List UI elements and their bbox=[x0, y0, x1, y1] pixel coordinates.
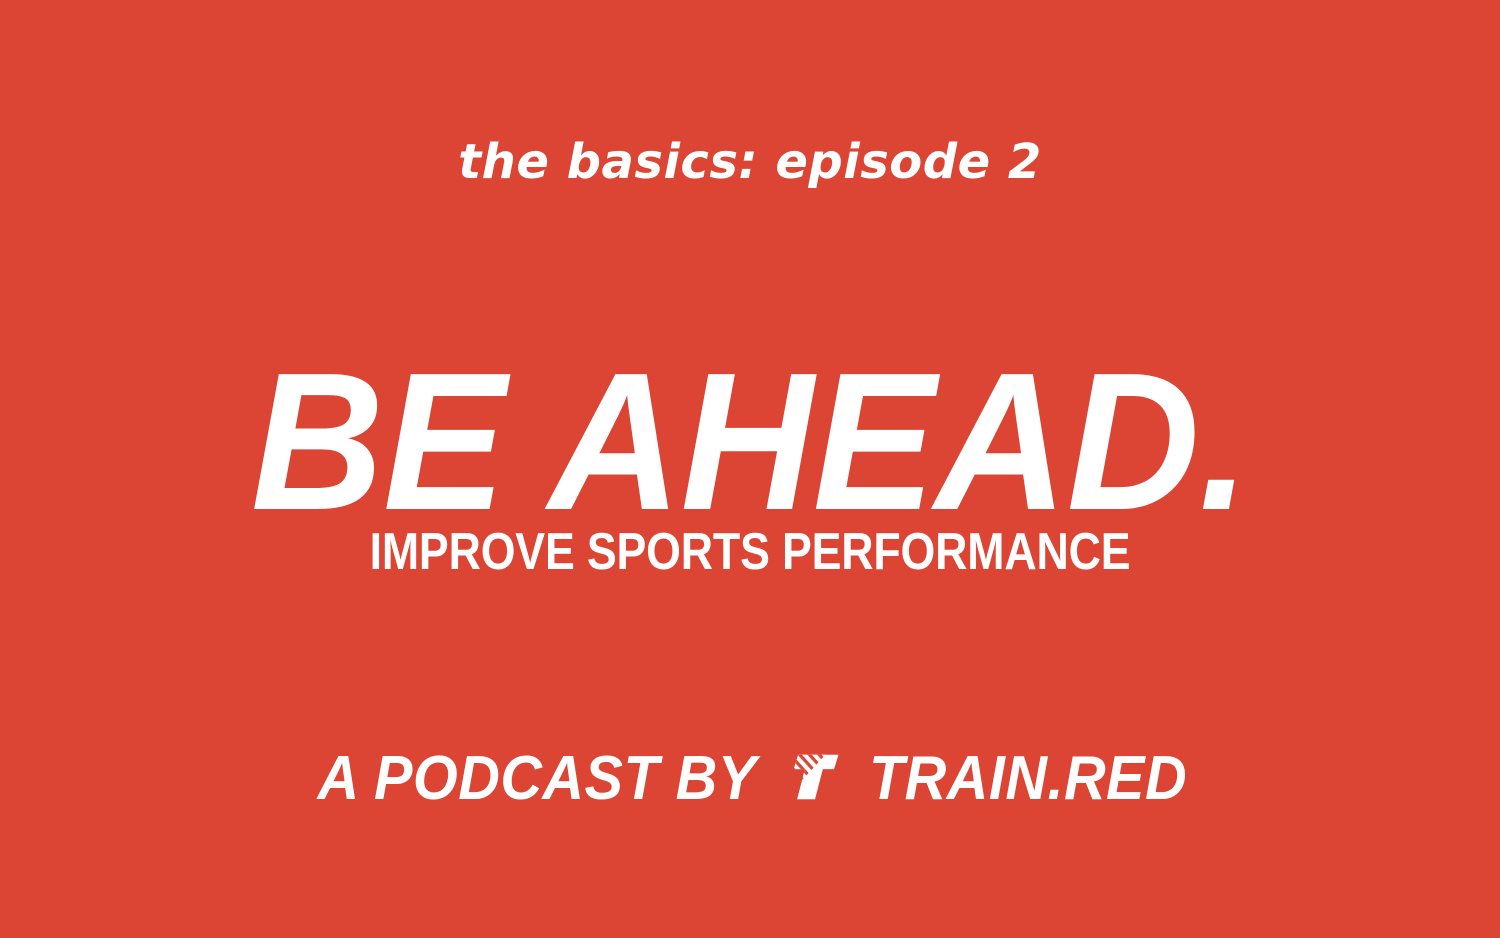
brand-name: TRAIN.RED bbox=[869, 746, 1187, 812]
podcast-cover-poster: the basics: episode 2 BE AHEAD. IMPROVE … bbox=[0, 0, 1500, 938]
page-subtitle: IMPROVE SPORTS PERFORMANCE bbox=[105, 524, 1395, 580]
credit-lead-text: A PODCAST BY bbox=[317, 746, 756, 812]
train-red-t-logo-icon bbox=[787, 749, 843, 805]
credit-line: A PODCAST BY TRAIN.RED bbox=[0, 746, 1500, 812]
page-title: BE AHEAD. bbox=[45, 344, 1455, 540]
episode-eyebrow: the basics: episode 2 bbox=[0, 131, 1500, 193]
